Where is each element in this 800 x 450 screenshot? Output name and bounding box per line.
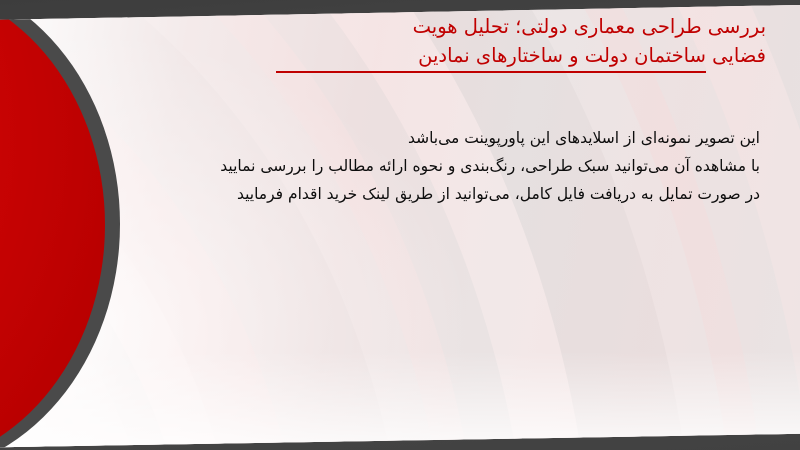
slide-content-panel: بررسی طراحی معماری دولتی؛ تحلیل هویت فضا… bbox=[0, 0, 800, 450]
body-line-1: این تصویر نمونه‌ای از اسلایدهای این پاور… bbox=[150, 124, 760, 152]
body-line-2: با مشاهده آن می‌توانید سبک طراحی، رنگ‌بن… bbox=[150, 152, 760, 180]
title-underline-rule bbox=[276, 71, 706, 73]
slide-text-content: بررسی طراحی معماری دولتی؛ تحلیل هویت فضا… bbox=[0, 0, 800, 450]
presentation-slide: بررسی طراحی معماری دولتی؛ تحلیل هویت فضا… bbox=[0, 0, 800, 450]
title-line-1: بررسی طراحی معماری دولتی؛ تحلیل هویت bbox=[150, 12, 766, 41]
slide-body: این تصویر نمونه‌ای از اسلایدهای این پاور… bbox=[150, 124, 760, 208]
title-line-2: فضایی ساختمان دولت و ساختارهای نمادین bbox=[150, 41, 766, 70]
slide-title: بررسی طراحی معماری دولتی؛ تحلیل هویت فضا… bbox=[150, 12, 766, 73]
body-line-3: در صورت تمایل به دریافت فایل کامل، می‌تو… bbox=[150, 180, 760, 208]
